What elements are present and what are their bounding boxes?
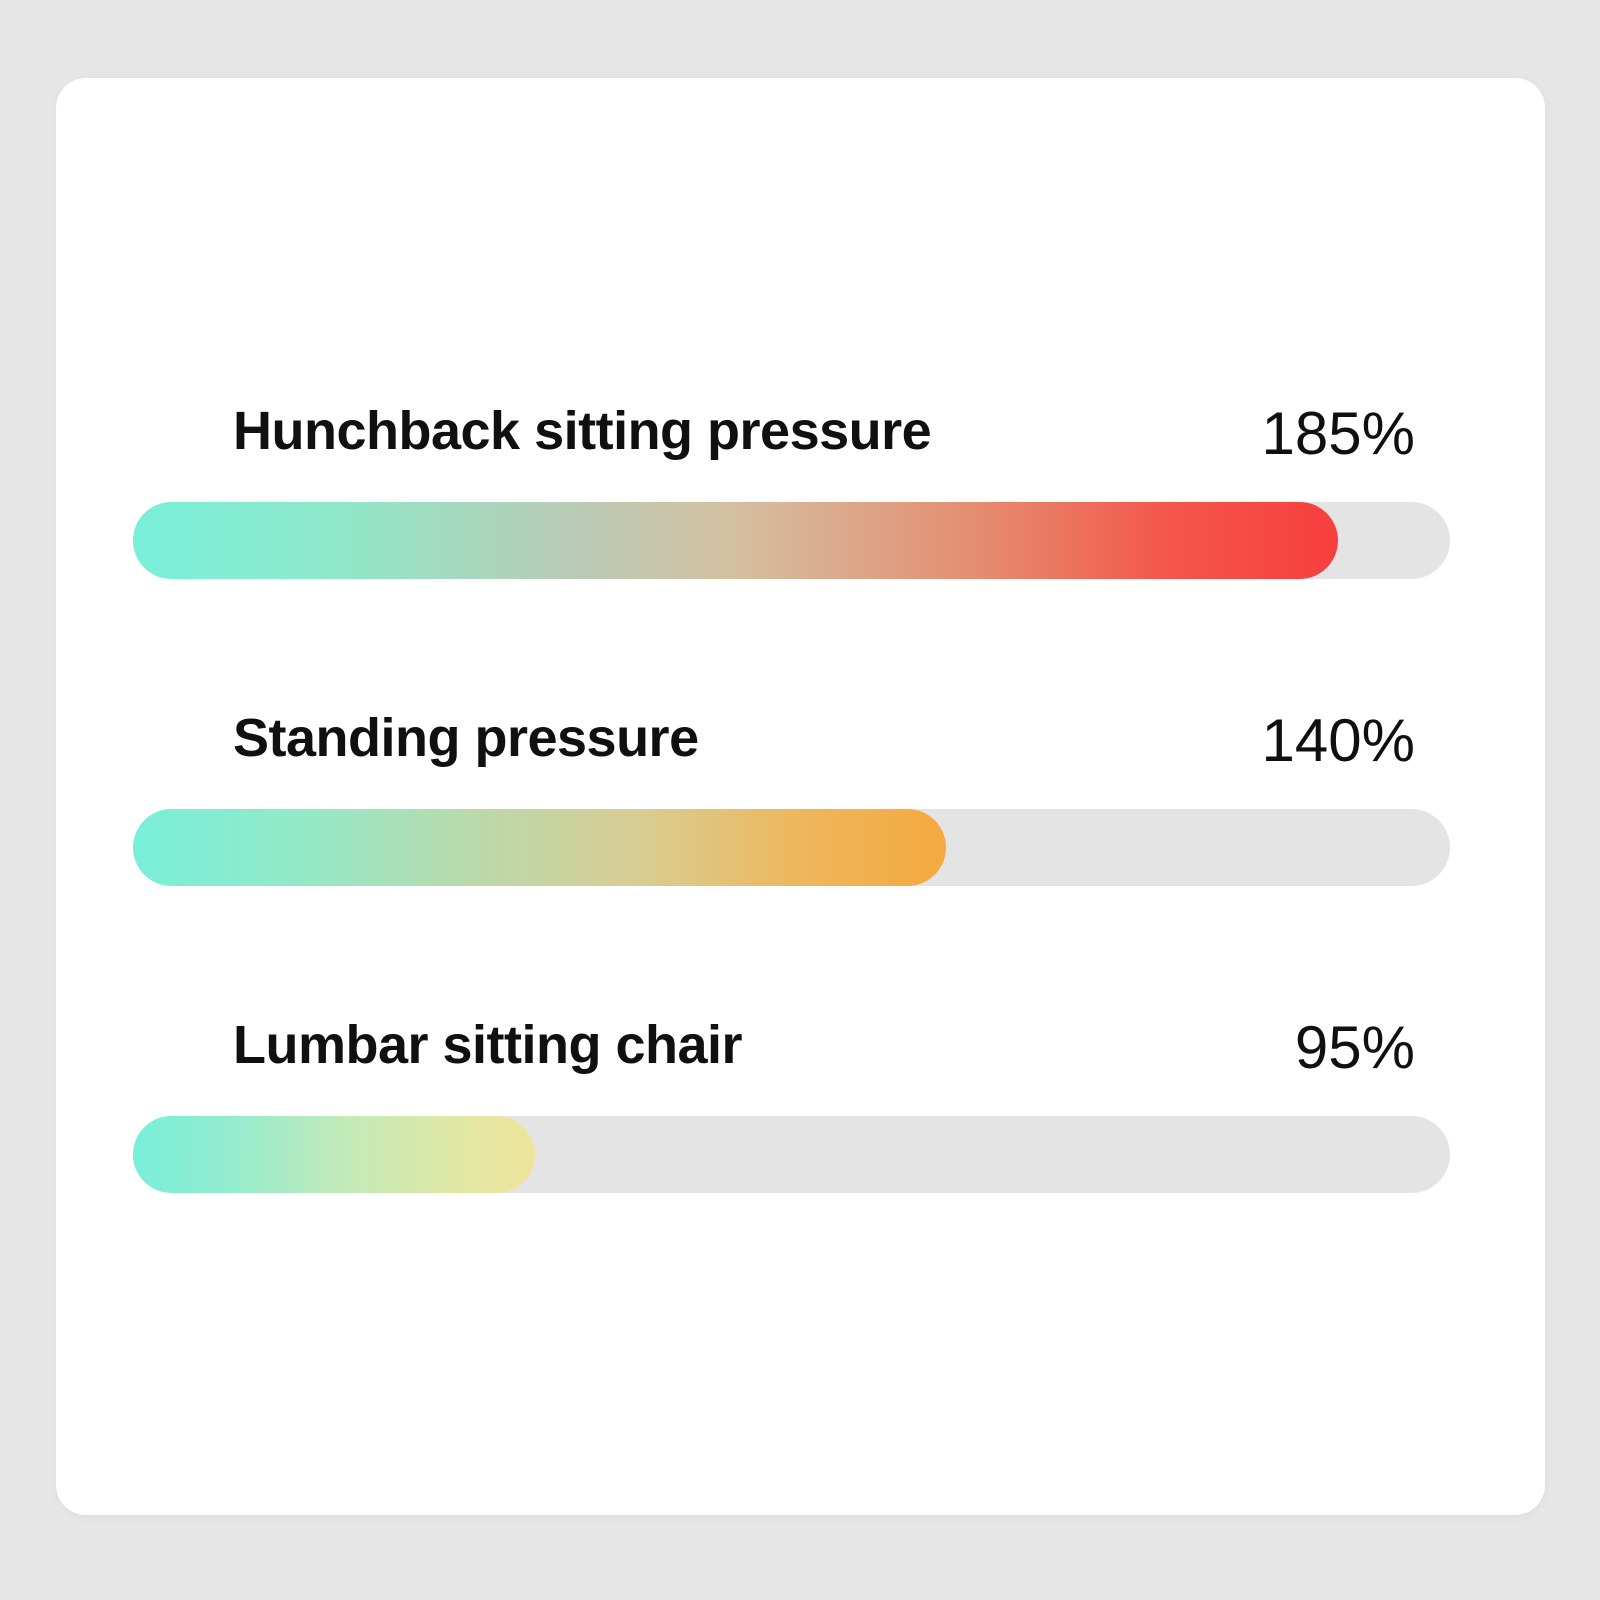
metric-header: Lumbar sitting chair 95% xyxy=(133,1004,1450,1082)
metric-row: Lumbar sitting chair 95% xyxy=(133,1004,1450,1193)
progress-fill xyxy=(133,502,1338,579)
metric-value: 185% xyxy=(1262,399,1415,468)
metric-header: Hunchback sitting pressure 185% xyxy=(133,390,1450,468)
metric-label: Lumbar sitting chair xyxy=(233,1014,742,1076)
metric-label: Standing pressure xyxy=(233,707,699,769)
metrics-list: Hunchback sitting pressure 185% Standing… xyxy=(133,78,1450,1515)
progress-track xyxy=(133,809,1450,886)
progress-fill xyxy=(133,1116,535,1193)
metric-row: Standing pressure 140% xyxy=(133,697,1450,886)
screenshot-stage: Hunchback sitting pressure 185% Standing… xyxy=(0,0,1600,1600)
metric-header: Standing pressure 140% xyxy=(133,697,1450,775)
progress-track xyxy=(133,502,1450,579)
metric-label: Hunchback sitting pressure xyxy=(233,400,931,462)
metric-value: 95% xyxy=(1295,1013,1415,1082)
progress-fill xyxy=(133,809,946,886)
metrics-card: Hunchback sitting pressure 185% Standing… xyxy=(56,78,1545,1515)
metric-value: 140% xyxy=(1262,706,1415,775)
progress-track xyxy=(133,1116,1450,1193)
metric-row: Hunchback sitting pressure 185% xyxy=(133,390,1450,579)
